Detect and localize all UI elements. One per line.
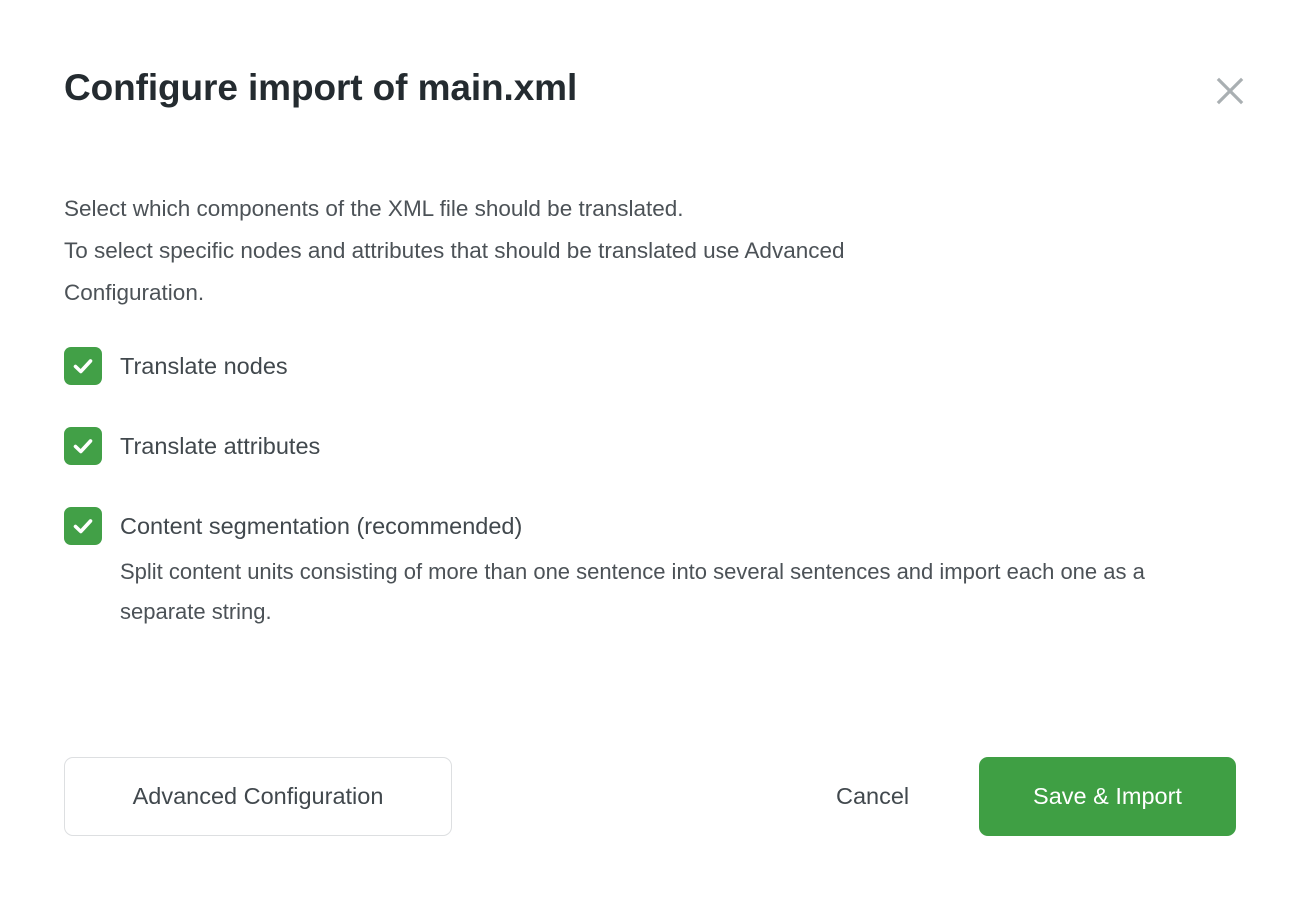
close-button[interactable]: [1209, 70, 1251, 112]
option-translate-attributes[interactable]: Translate attributes: [64, 426, 320, 466]
advanced-configuration-button[interactable]: Advanced Configuration: [64, 757, 452, 836]
cancel-button[interactable]: Cancel: [836, 757, 909, 836]
option-text-group: Translate attributes: [120, 426, 320, 466]
page-title: Configure import of main.xml: [64, 68, 577, 109]
option-label[interactable]: Translate attributes: [120, 426, 320, 466]
option-text-group: Content segmentation (recommended) Split…: [120, 506, 1220, 632]
option-description: Split content units consisting of more t…: [120, 552, 1220, 632]
configure-import-dialog: Configure import of main.xml Select whic…: [0, 0, 1300, 900]
checkmark-icon: [71, 514, 95, 538]
option-label[interactable]: Translate nodes: [120, 346, 288, 386]
checkbox-translate-attributes[interactable]: [64, 427, 102, 465]
close-icon: [1214, 75, 1246, 107]
checkbox-content-segmentation[interactable]: [64, 507, 102, 545]
save-and-import-button[interactable]: Save & Import: [979, 757, 1236, 836]
checkmark-icon: [71, 354, 95, 378]
option-text-group: Translate nodes: [120, 346, 288, 386]
option-label[interactable]: Content segmentation (recommended): [120, 506, 1220, 546]
checkbox-translate-nodes[interactable]: [64, 347, 102, 385]
intro-line-3: Configuration.: [64, 272, 1104, 314]
dialog-footer: Advanced Configuration Cancel Save & Imp…: [0, 757, 1300, 837]
intro-line-1: Select which components of the XML file …: [64, 188, 1104, 230]
option-translate-nodes[interactable]: Translate nodes: [64, 346, 288, 386]
dialog-header: Configure import of main.xml: [0, 0, 1300, 150]
intro-line-2: To select specific nodes and attributes …: [64, 230, 1104, 272]
option-content-segmentation[interactable]: Content segmentation (recommended) Split…: [64, 506, 1220, 632]
intro-text: Select which components of the XML file …: [64, 188, 1104, 314]
checkmark-icon: [71, 434, 95, 458]
